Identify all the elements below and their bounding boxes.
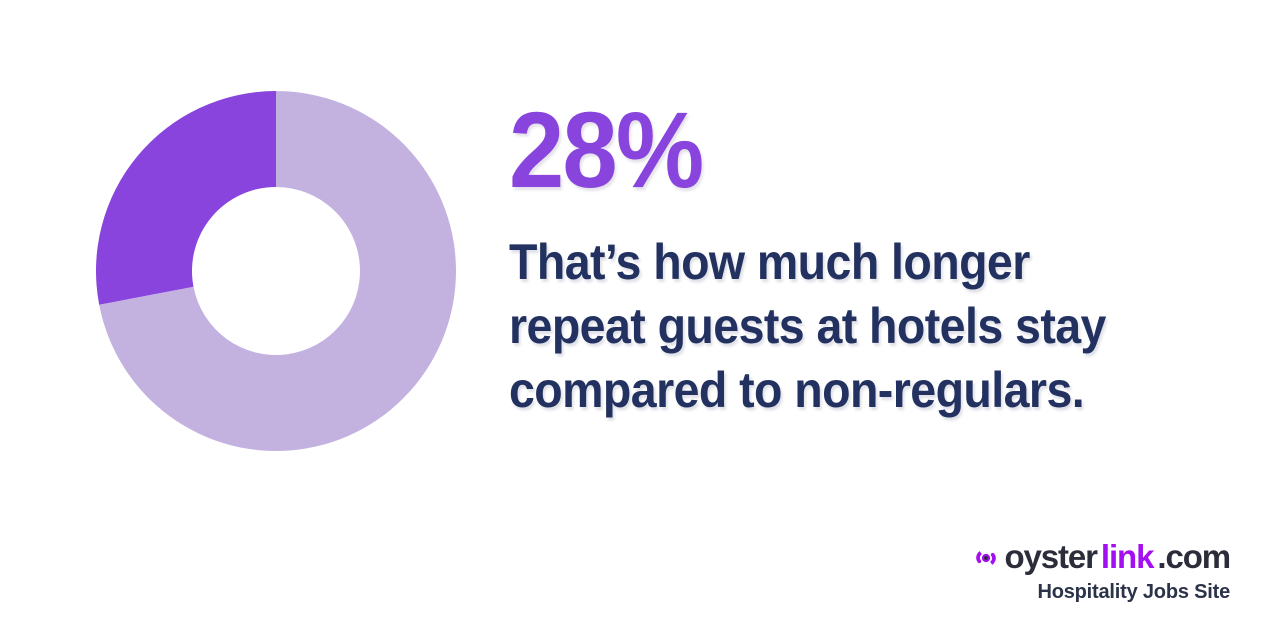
logo-word-link: link — [1101, 540, 1153, 573]
logo-wordmark: oyster link .com — [973, 540, 1230, 573]
headline-line-2: repeat guests at hotels stay — [509, 294, 1160, 358]
stat-text-block: 28% That’s how much longer repeat guests… — [509, 96, 1209, 422]
logo-word-dotcom: .com — [1157, 540, 1230, 573]
donut-slice-highlight — [96, 91, 276, 305]
brand-logo: oyster link .com Hospitality Jobs Site — [973, 540, 1230, 604]
oyster-pearl-icon — [973, 545, 999, 571]
headline-line-1: That’s how much longer — [509, 230, 1160, 294]
infographic-canvas: 28% That’s how much longer repeat guests… — [0, 0, 1280, 640]
stat-percentage: 28% — [509, 96, 1153, 204]
donut-chart — [96, 91, 456, 451]
headline-line-3: compared to non-regulars. — [509, 358, 1160, 422]
logo-tagline: Hospitality Jobs Site — [973, 581, 1230, 604]
donut-chart-svg — [96, 91, 456, 451]
logo-word-oyster: oyster — [1004, 540, 1096, 573]
headline: That’s how much longer repeat guests at … — [509, 230, 1160, 422]
